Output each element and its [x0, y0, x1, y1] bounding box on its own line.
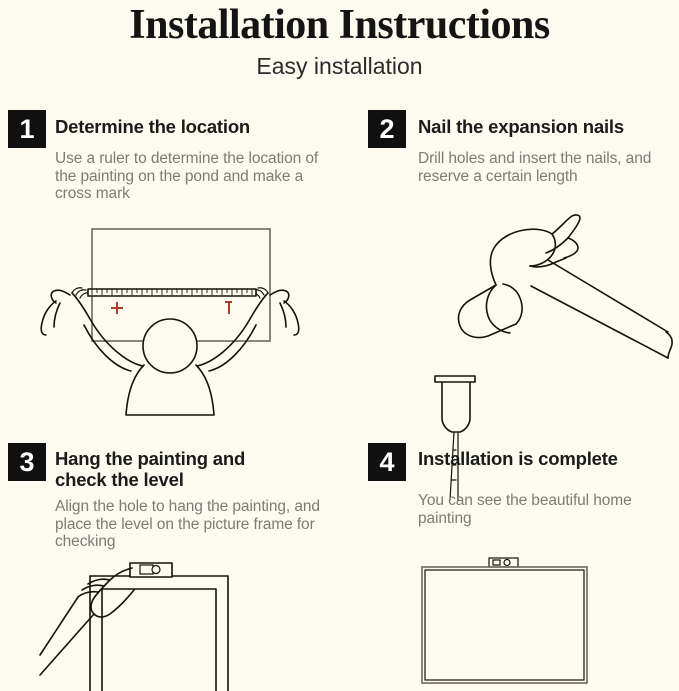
step-2-illustration	[400, 200, 679, 420]
step-3-illustration	[40, 560, 300, 691]
step-4-body: You can see the beautiful home painting	[418, 492, 668, 527]
step-2-number-badge: 2	[368, 110, 406, 148]
step-4-heading: Installation is complete	[418, 448, 668, 469]
step-2-body: Drill holes and insert the nails, and re…	[418, 150, 679, 185]
step-3-body: Align the hole to hang the painting, and…	[55, 498, 330, 551]
step-2-heading: Nail the expansion nails	[418, 116, 678, 137]
step-1-illustration	[10, 215, 330, 425]
step-1-heading: Determine the location	[55, 116, 345, 137]
step-3-number-badge: 3	[8, 443, 46, 481]
step-1-number-badge: 1	[8, 110, 46, 148]
page-subtitle: Easy installation	[0, 52, 679, 80]
installation-instructions-poster: Installation Instructions Easy installat…	[0, 0, 679, 691]
step-1-body: Use a ruler to determine the location of…	[55, 150, 335, 203]
step-4-number-badge: 4	[368, 443, 406, 481]
step-3-heading: Hang the painting and check the level	[55, 448, 295, 490]
step-4-illustration	[400, 552, 679, 691]
page-title: Installation Instructions	[0, 2, 679, 48]
